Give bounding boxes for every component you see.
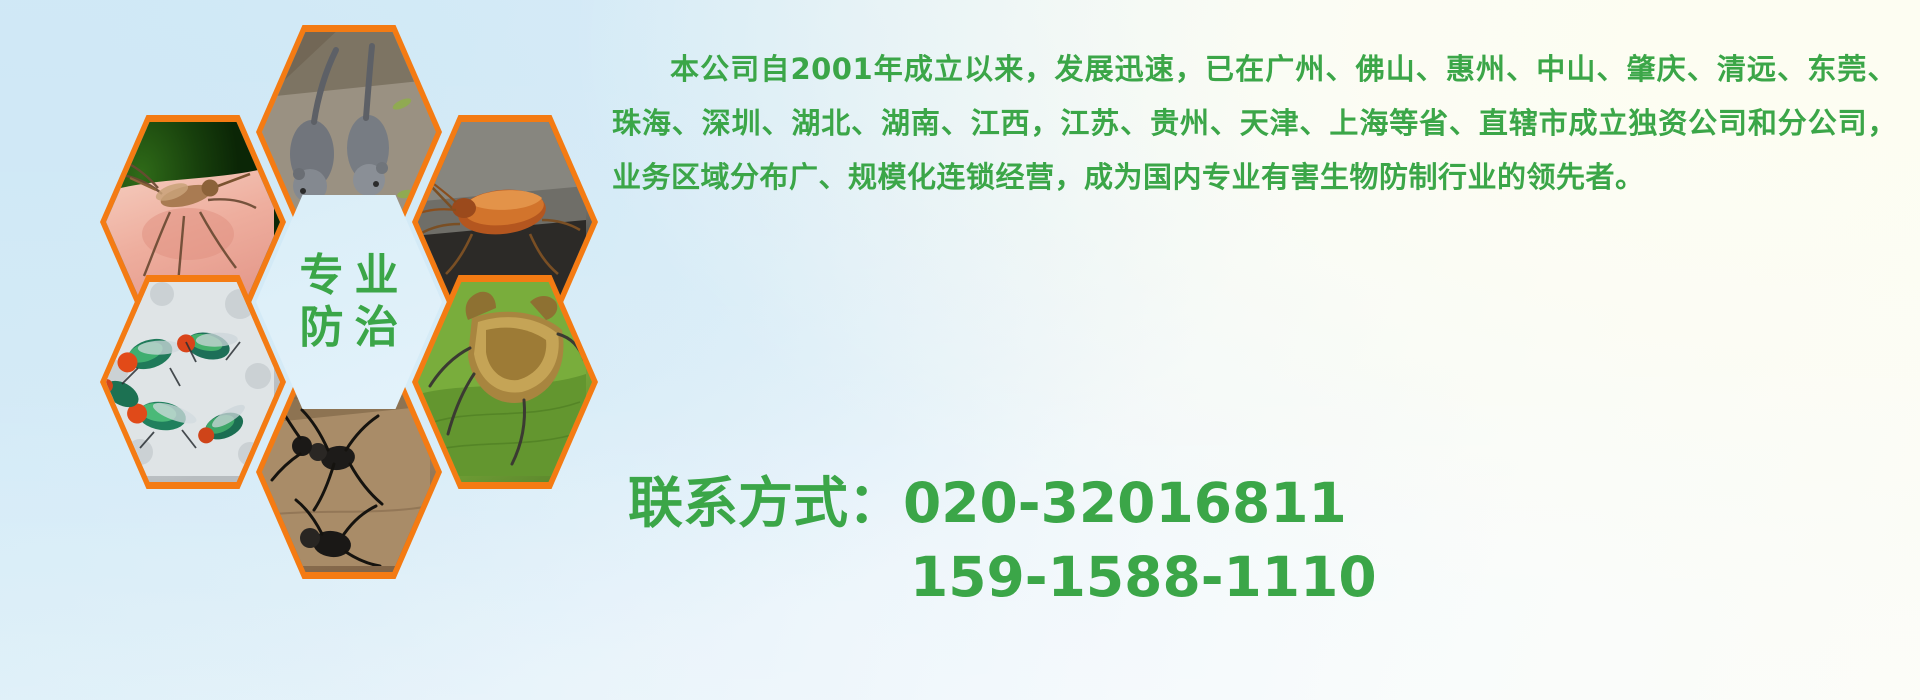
flies-icon bbox=[106, 282, 280, 482]
hex-tile-slogan: 专业 防治 bbox=[256, 195, 442, 409]
hex-tile-flies[interactable] bbox=[100, 275, 286, 489]
hex-tile-stinkbug[interactable] bbox=[412, 275, 598, 489]
hexagon-image-cluster: 专业 防治 bbox=[0, 0, 620, 700]
hex-inner-flies bbox=[106, 282, 280, 482]
stinkbug-illustration bbox=[418, 282, 586, 476]
contact-phone-mobile[interactable]: 159-1588-1110 bbox=[620, 540, 1910, 614]
contact-phone-landline[interactable]: 联系方式：020-32016811 bbox=[620, 466, 1910, 540]
copy-block: 本公司自2001年成立以来，发展迅速，已在广州、佛山、惠州、中山、肇庆、清远、东… bbox=[612, 42, 1897, 204]
hex-inner-stinkbug bbox=[418, 282, 592, 482]
contact-block: 联系方式：020-32016811 159-1588-1110 bbox=[620, 466, 1910, 614]
promo-banner: 专业 防治 本公司自2001年成立以来，发展迅速，已在广州、佛山、惠州、中山、肇… bbox=[0, 0, 1920, 700]
company-intro-paragraph: 本公司自2001年成立以来，发展迅速，已在广州、佛山、惠州、中山、肇庆、清远、东… bbox=[612, 42, 1897, 204]
flies-illustration bbox=[106, 282, 274, 476]
slogan-line-1: 专业 bbox=[289, 253, 410, 299]
stinkbug-icon bbox=[418, 282, 592, 482]
slogan-line-2: 防治 bbox=[289, 305, 410, 351]
